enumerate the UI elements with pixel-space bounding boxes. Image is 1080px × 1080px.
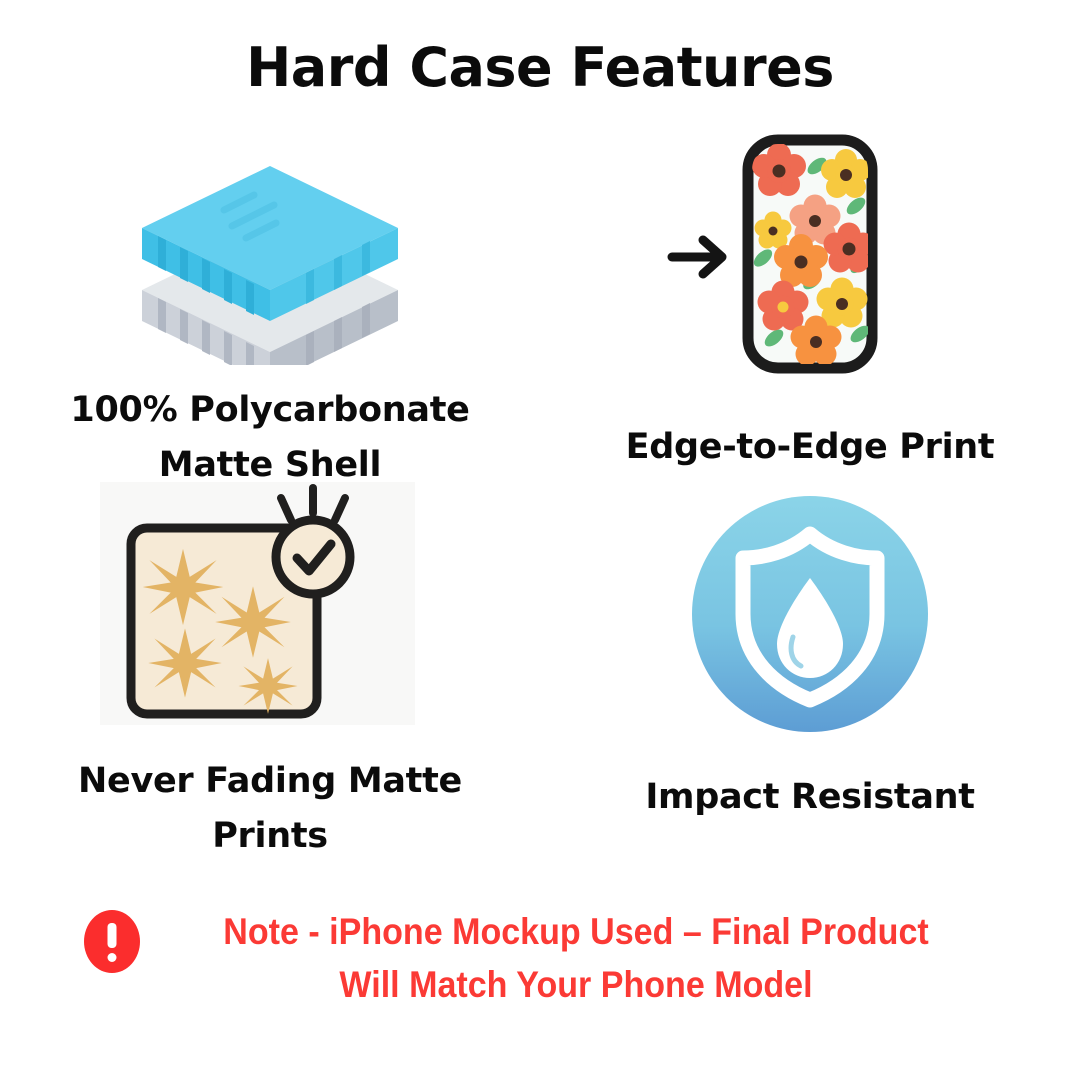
feature-label: Never Fading Matte Prints [40, 754, 500, 865]
feature-polycarbonate-shell: 100% Polycarbonate Matte Shell [0, 128, 540, 494]
feature-never-fading-prints: Never Fading Matte Prints [0, 480, 540, 865]
shield-droplet-icon [685, 494, 935, 734]
note-text: Note - iPhone Mockup Used – Final Produc… [190, 906, 963, 1011]
exclamation-dot [108, 953, 117, 962]
sparkle-swatch-check-icon [105, 480, 435, 732]
feature-label: 100% Polycarbonate Matte Shell [40, 383, 500, 494]
layered-slab-icon [120, 150, 420, 365]
features-grid: 100% Polycarbonate Matte Shell [0, 128, 1080, 888]
mockup-disclaimer-note: Note - iPhone Mockup Used – Final Produc… [0, 906, 1080, 1011]
feature-edge-to-edge-print: Edge-to-Edge Print [540, 128, 1080, 475]
arrow-right-icon [672, 240, 722, 274]
feature-label: Impact Resistant [645, 770, 974, 825]
floral-phone-case-icon [660, 130, 960, 378]
feature-impact-resistant: Impact Resistant [540, 480, 1080, 825]
exclamation-badge-icon [84, 910, 140, 973]
exclamation-stem [108, 923, 117, 948]
page-title: Hard Case Features [0, 36, 1080, 99]
feature-label: Edge-to-Edge Print [626, 420, 995, 475]
